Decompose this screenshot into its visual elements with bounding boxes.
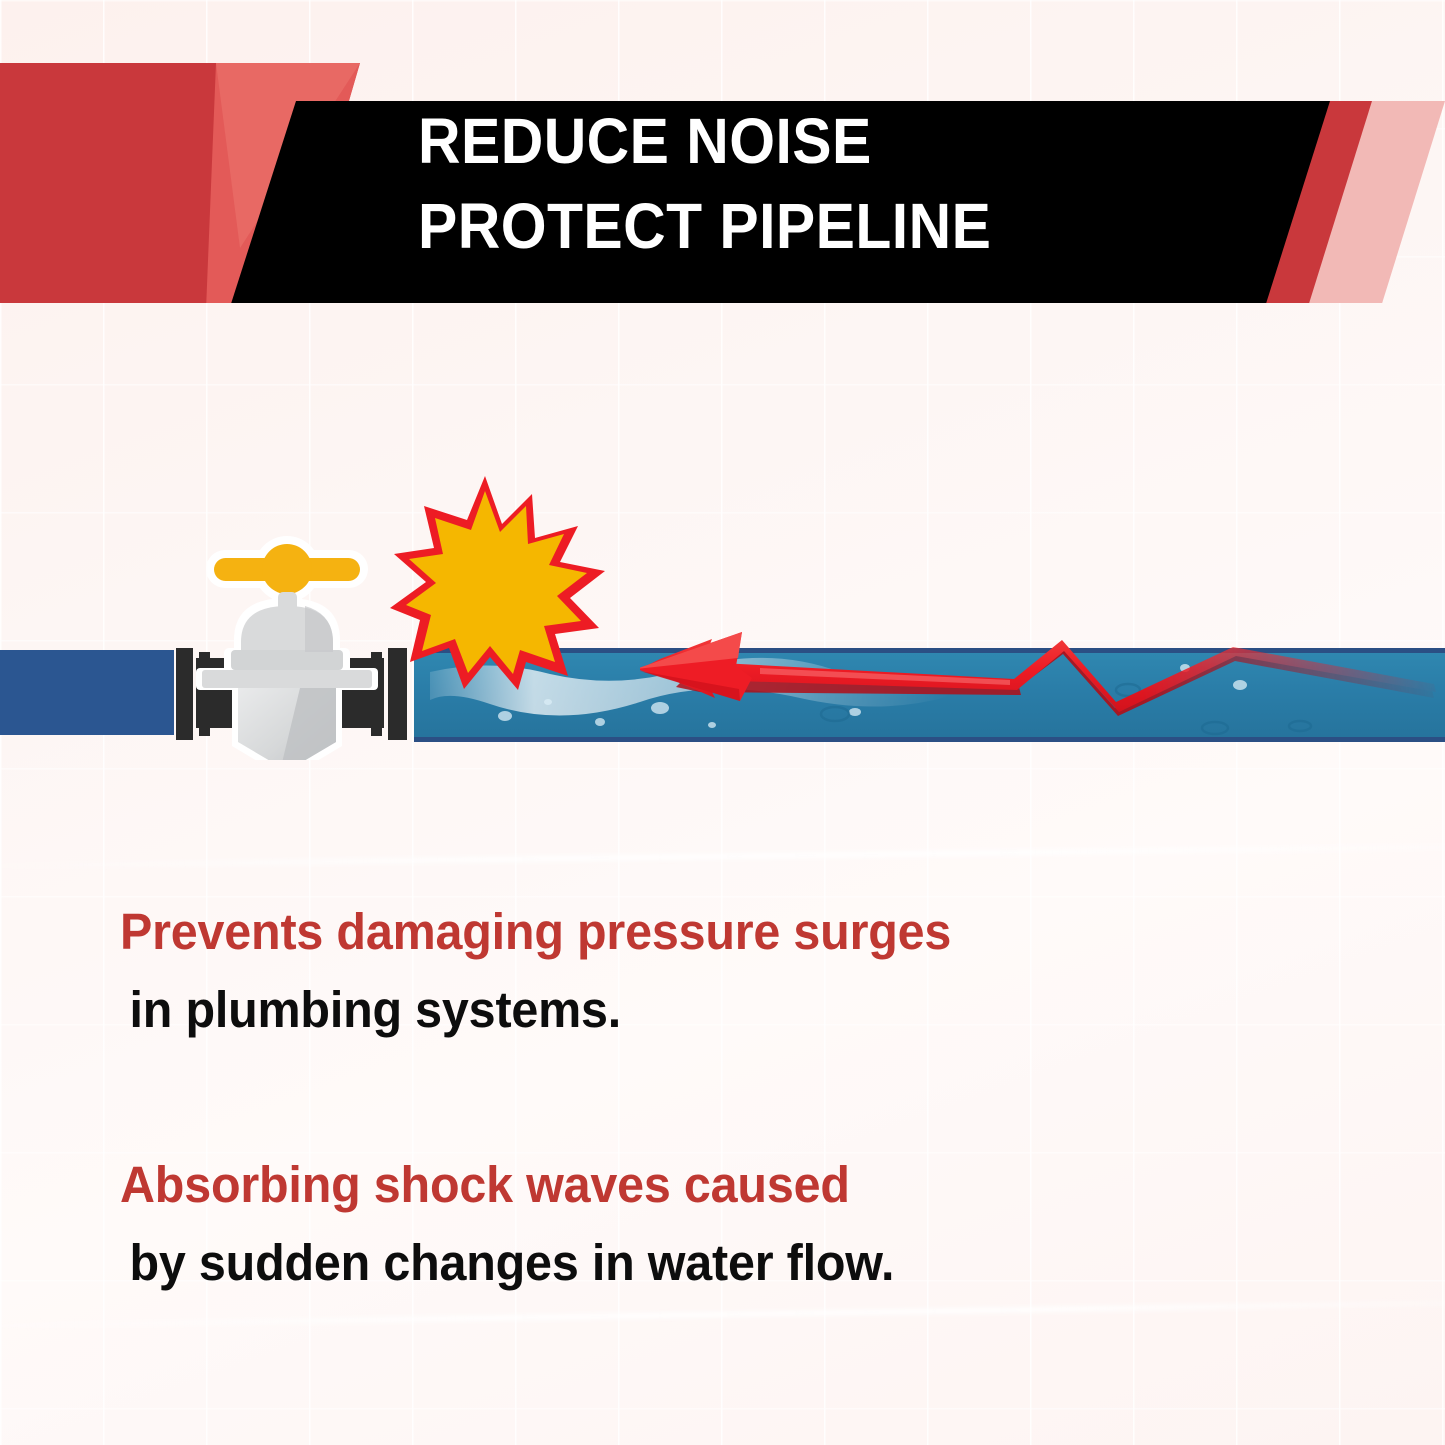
- valve-handle-hub: [262, 544, 312, 594]
- benefit-1-plain-line: in plumbing systems.: [120, 971, 1165, 1049]
- supply-pipe-segment: [0, 650, 174, 735]
- benefit-block-1: Prevents damaging pressure surges in plu…: [120, 893, 1220, 1048]
- valve-flange-plate: [202, 670, 372, 688]
- valve-pipe-flange-left-outer: [176, 648, 193, 740]
- benefit-2-accent-line: Absorbing shock waves caused: [120, 1146, 1165, 1224]
- benefit-1-accent-line: Prevents damaging pressure surges: [120, 893, 1165, 971]
- background-sheen-upper: [0, 844, 1445, 869]
- pipeline-illustration: [0, 440, 1445, 760]
- valve-pipe-flange-left-inner: [199, 652, 210, 736]
- benefit-block-2: Absorbing shock waves caused by sudden c…: [120, 1146, 1220, 1301]
- valve-pipe-flange-right-inner: [371, 652, 382, 736]
- valve-pipe-flange-right-outer: [388, 648, 407, 740]
- infographic-poster: REDUCE NOISE PROTECT PIPELINE: [0, 0, 1445, 1445]
- benefit-2-plain-line: by sudden changes in water flow.: [120, 1224, 1165, 1302]
- benefits-copy: Prevents damaging pressure surges in plu…: [120, 893, 1220, 1399]
- page-title: REDUCE NOISE PROTECT PIPELINE: [418, 99, 1117, 269]
- valve-bonnet-collar: [231, 650, 343, 670]
